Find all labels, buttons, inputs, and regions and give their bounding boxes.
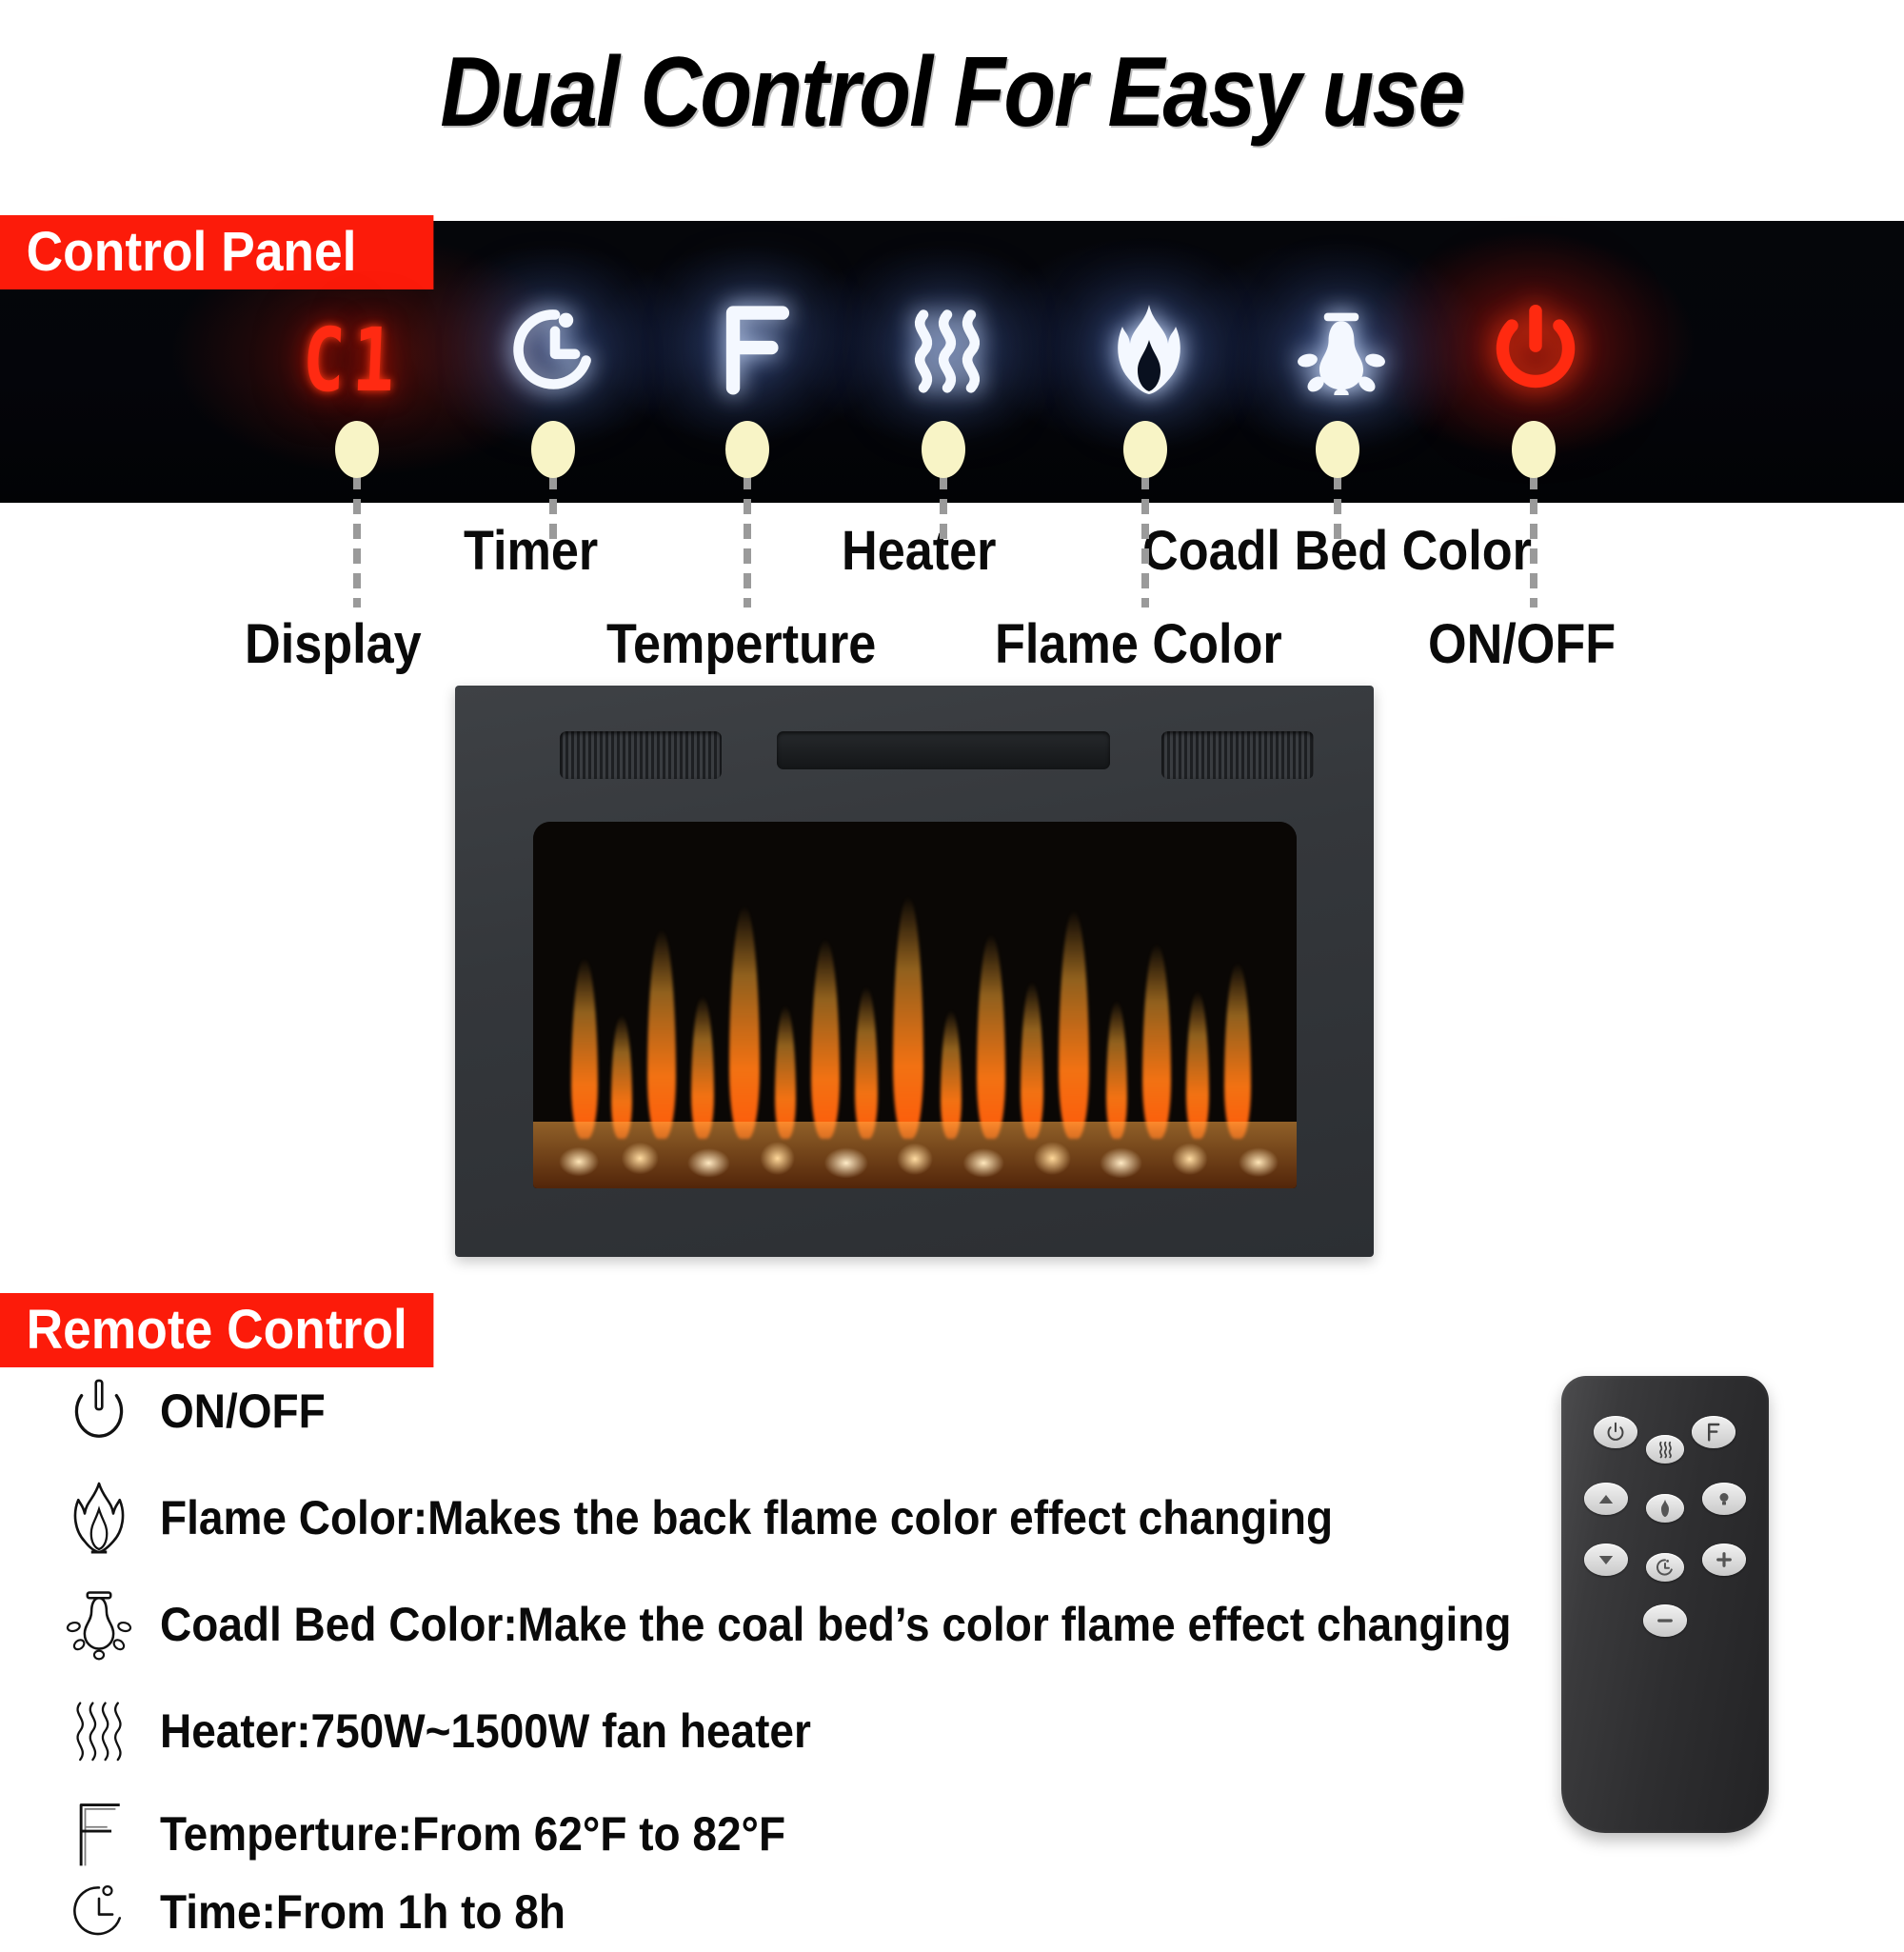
feature-text-time: Time:From 1h to 8h: [160, 1884, 565, 1940]
coal-bed-bulb-icon: [59, 1584, 139, 1664]
callout-dot-heater: [922, 421, 965, 478]
callout-label-temperture: Temperture: [606, 612, 876, 676]
flame-icon: [59, 1478, 139, 1558]
feature-text-coal-bed-color: Coadl Bed Color:Make the coal bed’s colo…: [160, 1597, 1511, 1652]
vent-right: [1161, 731, 1314, 779]
remote-button-minus[interactable]: [1643, 1604, 1687, 1637]
feature-row-heater: Heater:750W~1500W fan heater: [59, 1691, 867, 1771]
flame-window: [533, 822, 1297, 1188]
feature-text-temperture: Temperture:From 62°F to 82°F: [160, 1806, 785, 1862]
control-panel-badge: Control Panel: [0, 215, 433, 289]
feature-row-temperture: Temperture:From 62°F to 82°F: [59, 1794, 840, 1874]
callout-label-heater: Heater: [842, 519, 996, 583]
fahrenheit-icon[interactable]: [704, 297, 809, 402]
feature-row-on-off: ON/OFF: [59, 1371, 340, 1451]
remote-button-fahrenheit[interactable]: [1692, 1416, 1735, 1448]
leader-line-timer: [549, 474, 557, 543]
feature-text-on-off: ON/OFF: [160, 1384, 326, 1439]
callout-label-timer: Timer: [464, 519, 598, 583]
leader-line-flame-color: [1141, 474, 1149, 608]
callout-label-display: Display: [245, 612, 422, 676]
remote-button-up[interactable]: [1584, 1483, 1628, 1515]
remote-button-heat-waves[interactable]: [1646, 1435, 1684, 1464]
leader-line-coal-bed-color: [1334, 474, 1341, 543]
leader-line-heater: [940, 474, 947, 543]
feature-text-flame-color: Flame Color:Makes the back flame color e…: [160, 1490, 1333, 1545]
fahrenheit-icon: [59, 1794, 139, 1874]
callout-dot-timer: [531, 421, 575, 478]
callout-label-flame-color: Flame Color: [995, 612, 1282, 676]
leader-line-display: [353, 474, 361, 608]
remote-control-badge: Remote Control: [0, 1293, 433, 1367]
leader-line-on-off: [1530, 474, 1537, 608]
callout-dot-flame-color: [1123, 421, 1167, 478]
remote-button-flame[interactable]: [1646, 1494, 1684, 1523]
remote-button-plus[interactable]: [1702, 1544, 1746, 1576]
callout-dot-coal-bed-color: [1316, 421, 1359, 478]
remote-button-timer[interactable]: [1646, 1553, 1684, 1582]
timer-icon: [59, 1872, 139, 1952]
callout-label-on-off: ON/OFF: [1428, 612, 1616, 676]
coal-bed-bulb-icon[interactable]: [1289, 297, 1394, 402]
leader-line-temperture: [744, 474, 751, 608]
electric-fireplace-insert: [455, 686, 1374, 1257]
feature-row-flame-color: Flame Color:Makes the back flame color e…: [59, 1478, 1435, 1558]
feature-text-heater: Heater:750W~1500W fan heater: [160, 1703, 811, 1759]
callout-dot-on-off: [1512, 421, 1556, 478]
page-title: Dual Control For Easy use: [133, 36, 1771, 149]
feature-row-coal-bed-color: Coadl Bed Color:Make the coal bed’s colo…: [59, 1584, 1629, 1664]
feature-row-time: Time:From 1h to 8h: [59, 1872, 601, 1952]
power-icon: [59, 1371, 139, 1451]
display-segment-icon: C1: [301, 309, 405, 411]
power-icon[interactable]: [1483, 297, 1588, 402]
remote-handset[interactable]: [1561, 1376, 1769, 1833]
crystal-ember-bed: [533, 1122, 1297, 1188]
remote-button-bulb[interactable]: [1702, 1483, 1746, 1515]
remote-button-down[interactable]: [1584, 1544, 1628, 1576]
flame-icon[interactable]: [1097, 297, 1201, 402]
callout-dot-temperture: [725, 421, 769, 478]
timer-icon[interactable]: [503, 297, 607, 402]
callout-dot-display: [335, 421, 379, 478]
heater-waves-icon: [59, 1691, 139, 1771]
heater-waves-icon[interactable]: [895, 297, 1000, 402]
vent-center: [777, 731, 1110, 769]
remote-button-power[interactable]: [1594, 1416, 1637, 1448]
vent-left: [560, 731, 722, 779]
